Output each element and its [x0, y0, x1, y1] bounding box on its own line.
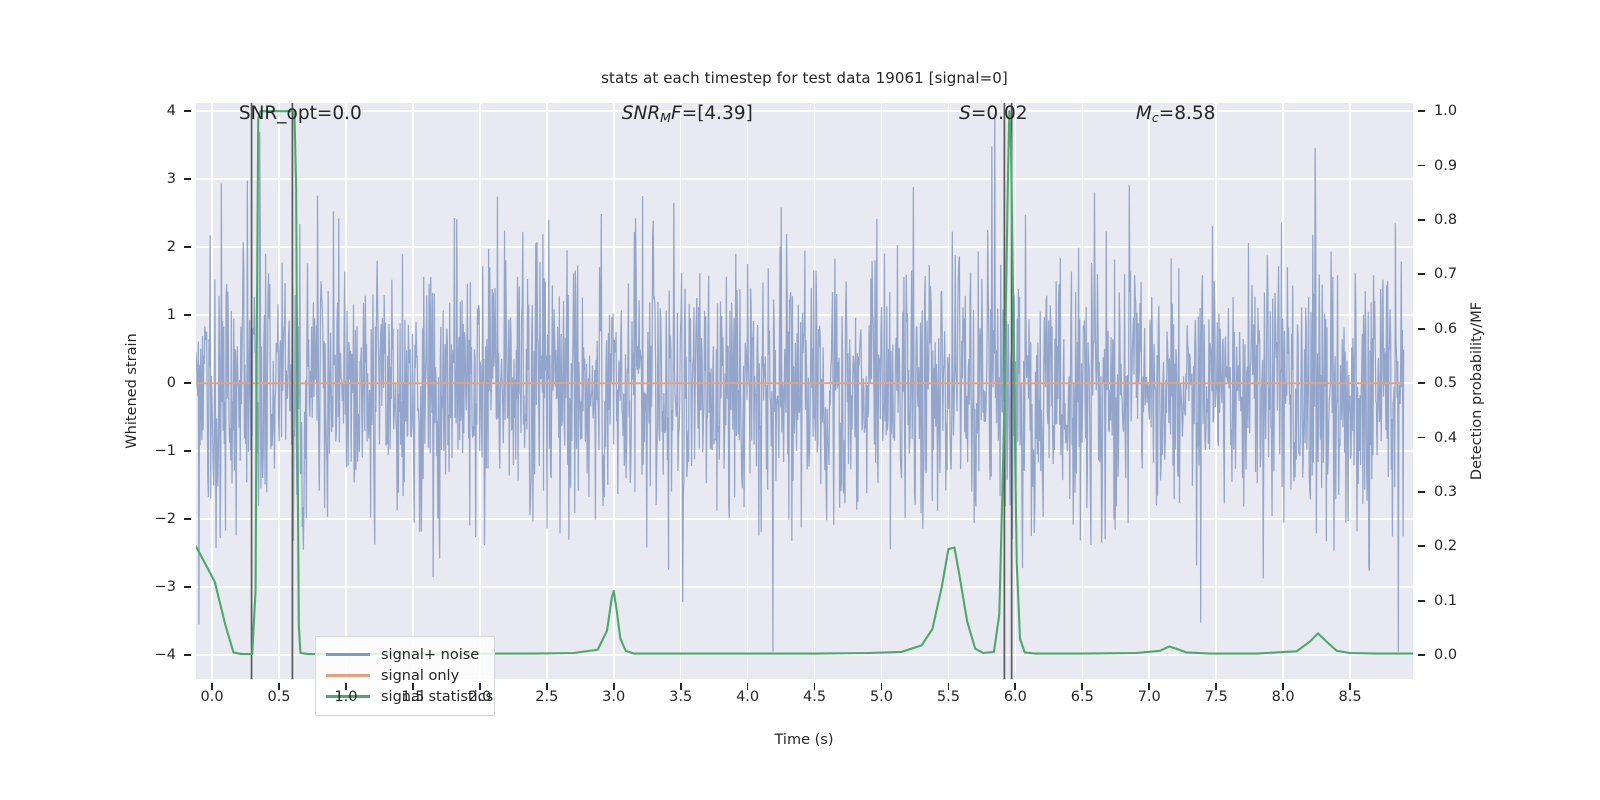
y-tick-mark-right	[1418, 600, 1425, 602]
y-tick-mark-left	[184, 450, 191, 452]
x-tick-label: 7.5	[1205, 689, 1228, 705]
y-tick-mark-left	[184, 654, 191, 656]
x-axis-label: Time (s)	[775, 732, 834, 748]
legend-swatch-signal-plus-noise	[326, 653, 370, 655]
y-tick-label-right: 0.8	[1434, 212, 1457, 228]
x-tick-label: 2.0	[468, 689, 491, 705]
y-tick-mark-left	[184, 110, 191, 112]
x-tick-label: 7.0	[1138, 689, 1161, 705]
y-tick-mark-right	[1418, 437, 1425, 439]
y-tick-label-right: 0.2	[1434, 538, 1457, 554]
y-tick-label-right: 0.3	[1434, 484, 1457, 500]
y-tick-label-right: 0.4	[1434, 430, 1457, 446]
legend-swatch-signal-only	[326, 674, 370, 676]
y-tick-mark-left	[184, 382, 191, 384]
x-tick-label: 3.0	[602, 689, 625, 705]
x-tick-mark	[1349, 683, 1351, 690]
x-tick-mark	[412, 683, 414, 690]
x-tick-label: 2.5	[535, 689, 558, 705]
y-tick-mark-right	[1418, 545, 1425, 547]
y-tick-label-right: 0.1	[1434, 593, 1457, 609]
x-tick-label: 3.5	[669, 689, 692, 705]
y-tick-label-left: 0	[167, 375, 176, 391]
x-tick-label: 8.5	[1339, 689, 1362, 705]
y-tick-label-left: 1	[167, 307, 176, 323]
x-tick-label: 6.5	[1071, 689, 1094, 705]
x-tick-mark	[613, 683, 615, 690]
y-tick-label-right: 0.0	[1434, 647, 1457, 663]
y-tick-mark-right	[1418, 328, 1425, 330]
annotation-snr-opt: SNR_opt=0.0	[239, 105, 362, 124]
y-tick-mark-right	[1418, 219, 1425, 221]
x-tick-label: 5.0	[870, 689, 893, 705]
x-tick-label: 5.5	[937, 689, 960, 705]
y-tick-label-left: −3	[155, 579, 176, 595]
x-tick-label: 4.5	[803, 689, 826, 705]
y-axis-label-right: Detection probability/MF	[1469, 302, 1485, 480]
y-tick-label-right: 0.9	[1434, 158, 1457, 174]
y-axis-label-left: Whitened strain	[124, 333, 140, 448]
y-tick-label-right: 0.6	[1434, 321, 1457, 337]
figure-title: stats at each timestep for test data 190…	[196, 69, 1413, 87]
y-tick-mark-right	[1418, 165, 1425, 167]
x-tick-label: 0.0	[201, 689, 224, 705]
y-tick-label-left: 2	[167, 239, 176, 255]
y-tick-label-right: 0.7	[1434, 266, 1457, 282]
x-tick-mark	[881, 683, 883, 690]
series-signal-statistics	[196, 103, 1413, 679]
y-tick-label-right: 0.5	[1434, 375, 1457, 391]
y-tick-mark-left	[184, 314, 191, 316]
x-tick-mark	[814, 683, 816, 690]
x-tick-mark	[948, 683, 950, 690]
x-tick-label: 1.5	[401, 689, 424, 705]
annotation-snr-mf: SNRMF=[4.39]	[622, 105, 753, 125]
x-tick-mark	[546, 683, 548, 690]
signal-statistics-trace	[196, 111, 1413, 654]
y-tick-label-left: −4	[155, 647, 176, 663]
x-tick-label: 0.5	[267, 689, 290, 705]
legend-item-signal-only[interactable]: signal only	[326, 665, 484, 686]
x-tick-label: 6.0	[1004, 689, 1027, 705]
x-tick-mark	[747, 683, 749, 690]
figure-canvas: stats at each timestep for test data 190…	[0, 0, 1600, 800]
y-tick-mark-left	[184, 246, 191, 248]
y-tick-label-left: −2	[155, 511, 176, 527]
y-tick-label-left: −1	[155, 443, 176, 459]
y-tick-mark-right	[1418, 382, 1425, 384]
x-tick-mark	[1014, 683, 1016, 690]
annotation-chirp-mass: Mc=8.58	[1136, 105, 1216, 125]
y-tick-mark-right	[1418, 654, 1425, 656]
legend-item-signal-plus-noise[interactable]: signal+ noise	[326, 644, 484, 665]
x-tick-mark	[479, 683, 481, 690]
y-tick-label-right: 1.0	[1434, 103, 1457, 119]
y-tick-mark-right	[1418, 491, 1425, 493]
annotation-signal-stat: S=0.02	[959, 105, 1027, 124]
x-tick-mark	[345, 683, 347, 690]
plot-axes[interactable]: SNR_opt=0.0SNRMF=[4.39]S=0.02Mc=8.58 sig…	[196, 103, 1413, 679]
x-tick-mark	[278, 683, 280, 690]
y-tick-mark-left	[184, 178, 191, 180]
x-tick-label: 8.0	[1272, 689, 1295, 705]
y-tick-mark-left	[184, 518, 191, 520]
y-tick-label-left: 4	[167, 103, 176, 119]
x-tick-label: 1.0	[334, 689, 357, 705]
x-tick-label: 4.0	[736, 689, 759, 705]
x-tick-mark	[1081, 683, 1083, 690]
plot-clip-region	[196, 103, 1413, 679]
y-tick-label-left: 3	[167, 171, 176, 187]
x-tick-mark	[211, 683, 213, 690]
x-tick-mark	[1215, 683, 1217, 690]
x-tick-mark	[1282, 683, 1284, 690]
x-tick-mark	[1148, 683, 1150, 690]
x-tick-mark	[680, 683, 682, 690]
y-tick-mark-left	[184, 586, 191, 588]
legend-label-signal-plus-noise: signal+ noise	[381, 647, 479, 663]
y-tick-mark-right	[1418, 110, 1425, 112]
legend-label-signal-only: signal only	[381, 668, 459, 684]
y-tick-mark-right	[1418, 273, 1425, 275]
